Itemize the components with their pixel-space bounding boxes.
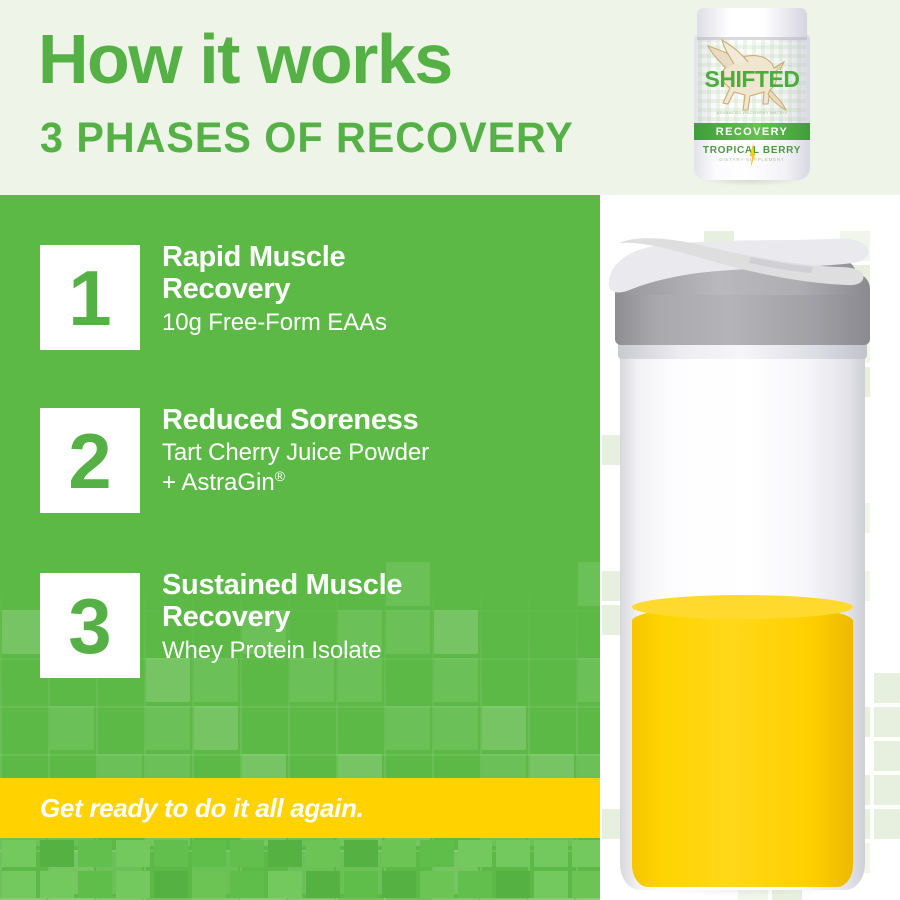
jar-shadow [698, 180, 806, 186]
shaker-bottle-icon [585, 225, 900, 900]
page-subtitle: 3 PHASES OF RECOVERY [40, 117, 574, 160]
jar-brand-label: SHIFTED [688, 66, 816, 93]
shaker-handle-icon [601, 235, 873, 293]
shaker-liquid [632, 605, 853, 887]
phase-sub-3: Whey Protein Isolate [162, 636, 582, 666]
product-jar: SHIFTED ADVANCED RECOVERY MATRIX RECOVER… [688, 4, 816, 184]
phase-sub-2-line2-text: + AstraGin [162, 469, 275, 496]
phase-title-1-line1: Rapid Muscle [162, 241, 582, 273]
header-band: How it works 3 PHASES OF RECOVERY SHIFTE… [0, 0, 900, 195]
phase-number-box-2: 2 [40, 408, 140, 513]
footer-tagline: Get ready to do it all again. [40, 793, 364, 824]
phase-number-box-3: 3 [40, 573, 140, 678]
phase-sub-2-line1: Tart Cherry Juice Powder [162, 438, 582, 468]
phase-text-3: Sustained Muscle Recovery Whey Protein I… [162, 569, 582, 666]
phase-title-1-line2: Recovery [162, 273, 582, 305]
phase-text-2: Reduced Soreness Tart Cherry Juice Powde… [162, 404, 582, 498]
phase-text-1: Rapid Muscle Recovery 10g Free-Form EAAs [162, 241, 582, 338]
jar-band-label: RECOVERY [716, 126, 789, 138]
jar-band: RECOVERY [694, 123, 810, 140]
infographic-canvas: How it works 3 PHASES OF RECOVERY SHIFTE… [0, 0, 900, 900]
jar-fineprint: ADVANCED RECOVERY MATRIX [688, 110, 816, 115]
phase-title-3-line1: Sustained Muscle [162, 569, 582, 601]
phase-title-2-line1: Reduced Soreness [162, 404, 582, 436]
bottom-tile-strip [0, 838, 600, 900]
phase-sub-1: 10g Free-Form EAAs [162, 308, 582, 338]
page-title: How it works [38, 24, 452, 94]
phase-sub-2-line2: + AstraGin® [162, 468, 582, 498]
phase-title-3-line2: Recovery [162, 601, 582, 633]
phase-number-2: 2 [68, 422, 111, 500]
footer-tagline-band: Get ready to do it all again. [0, 778, 600, 838]
registered-mark: ® [275, 468, 285, 484]
phase-number-3: 3 [68, 587, 111, 665]
shaker-liquid-surface [632, 595, 853, 619]
phase-number-box-1: 1 [40, 245, 140, 350]
phase-number-1: 1 [68, 259, 111, 337]
jar-lid [697, 8, 807, 42]
